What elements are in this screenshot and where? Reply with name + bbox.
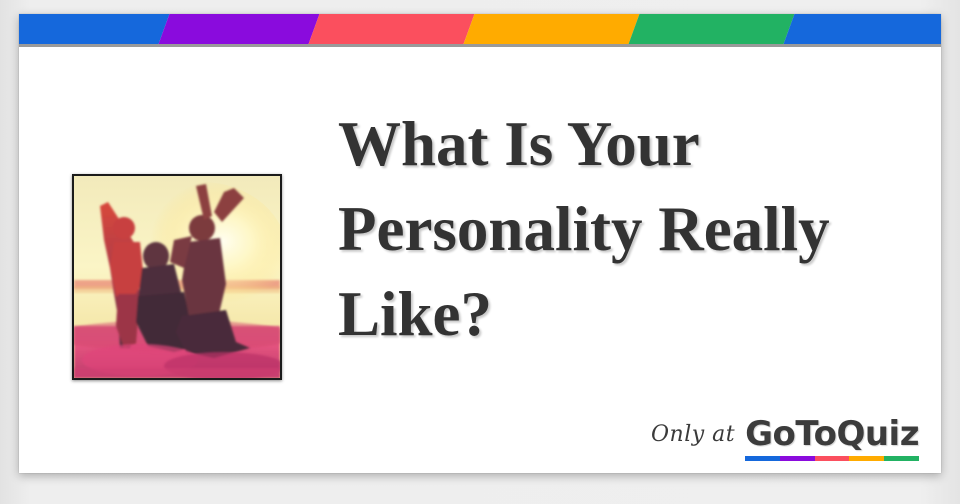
- logo-underline-segment-2: [815, 456, 850, 461]
- logo-underline-segment-4: [884, 456, 919, 461]
- quiz-thumbnail-image[interactable]: [72, 174, 282, 380]
- header-bar-segment-green: [626, 14, 796, 44]
- logo-underline-segment-3: [849, 456, 884, 461]
- page-background: What Is Your Personality Really Like? On…: [0, 0, 960, 504]
- header-bar-segment-orange: [461, 14, 641, 44]
- header-bar-segment-blue2: [781, 14, 941, 44]
- quiz-card: What Is Your Personality Really Like? On…: [19, 14, 941, 473]
- gotoquiz-logo[interactable]: GoToQuiz: [745, 415, 919, 461]
- header-bar-segment-red: [306, 14, 476, 44]
- only-at-label: Only at: [651, 422, 735, 461]
- rainbow-header-bar: [19, 14, 941, 44]
- branding: Only at GoToQuiz: [651, 415, 919, 461]
- gotoquiz-logo-text: GoToQuiz: [745, 415, 919, 453]
- thumbnail-illustration: [74, 176, 280, 378]
- gotoquiz-logo-underline: [745, 456, 919, 461]
- header-bar-segment-blue: [19, 14, 172, 44]
- card-body: What Is Your Personality Really Like? On…: [19, 47, 941, 473]
- logo-underline-segment-1: [780, 456, 815, 461]
- header-bar-segment-purple: [156, 14, 321, 44]
- quiz-title: What Is Your Personality Really Like?: [338, 102, 918, 357]
- logo-underline-segment-0: [745, 456, 780, 461]
